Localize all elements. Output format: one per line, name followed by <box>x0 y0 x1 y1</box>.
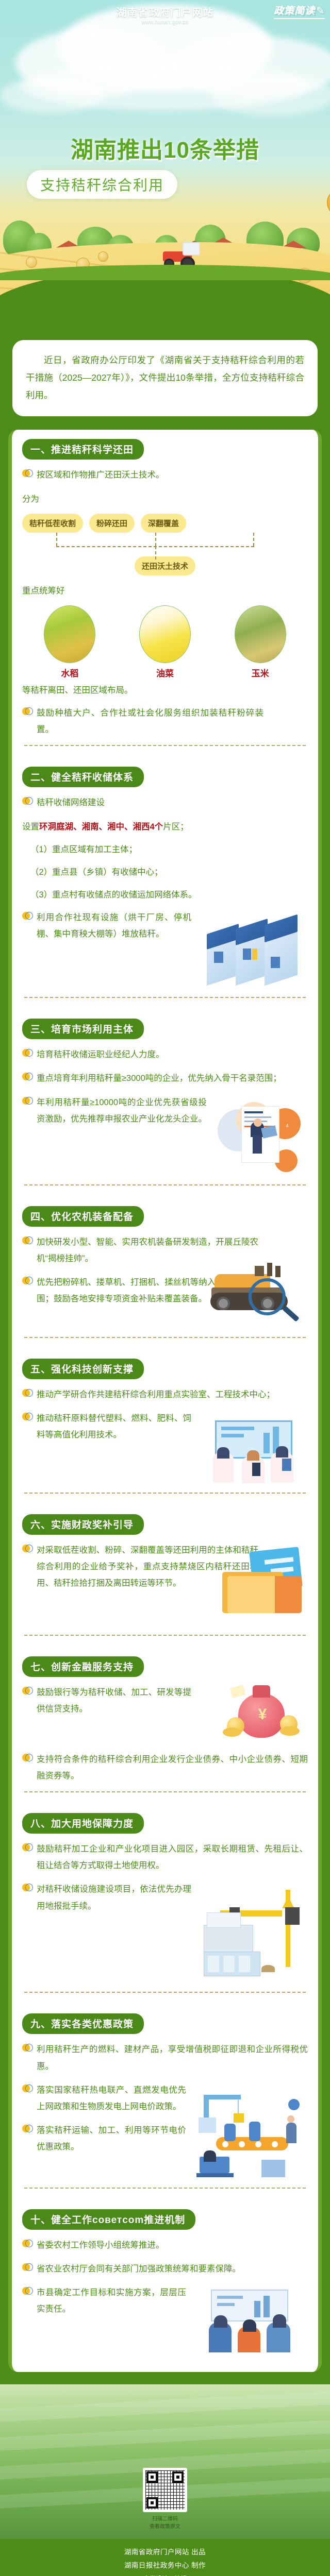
section-4: 四、优化农机装备配备 <box>12 1197 318 1349</box>
section-heading: 五、强化科技创新支撑 <box>22 1359 144 1379</box>
flow-diagram: 秸秆低茬收割 粉碎还田 深翻覆盖 还田沃土技术 <box>22 514 308 575</box>
crop-list: 水稻 油菜 玉米 <box>22 605 308 679</box>
bullet-dot-icon <box>22 1049 32 1059</box>
crop-item: 油菜 <box>137 605 193 679</box>
credit-line-2: 湖南日报社政务中心 制作 <box>0 2560 330 2570</box>
section-divider <box>24 745 306 746</box>
section-9: 九、落实各类优惠政策 利用秸秆生产的燃料、建材产品，享受增值税即征即退和企业所得… <box>12 2004 318 2199</box>
bullet-dot-icon <box>22 2084 32 2094</box>
bullet-text: 落实国家秸秆热电联产、直燃发电优先上网政策和生物质发电上网电价政策。 <box>37 2082 186 2115</box>
bullet-dot-icon <box>22 2287 32 2297</box>
crop-label: 水稻 <box>41 666 98 679</box>
qr-code[interactable] <box>143 2468 187 2512</box>
page-subtitle-container: 支持秸秆综合利用 <box>27 170 177 199</box>
numbered-item: （2）重点县（乡镇）有收储中心； <box>30 864 308 880</box>
bullet-text: 优先把粉碎机、搂草机、打捆机、揉丝机等纳入中央补贴范围；鼓励各地安排专项资金补贴… <box>37 1274 258 1307</box>
bullet-text: 鼓励种植大户、合作社或社会化服务组织加装秸秆粉碎装置。 <box>37 705 263 738</box>
section-heading: 三、培育市场利用主体 <box>22 1019 144 1039</box>
bullet-dot-icon <box>22 469 32 479</box>
bullet-item: 落实秸秆运输、加工、利用等环节电价优惠政策。 <box>22 2122 308 2155</box>
section-divider <box>24 1992 306 1993</box>
bullet-item: 加快研发小型、智能、实用农机装备研发制造，开展丘陵农机“揭榜挂帅”。 <box>22 1234 308 1267</box>
section-7: 七、创新金融服务支持 ¥ 鼓励银行等为秸秆收储、加工、研发 <box>12 1647 318 1804</box>
site-url: www.hunan.gov.cn <box>0 20 330 25</box>
qr-block: 扫描二维码 查看政策原文 <box>0 2468 330 2531</box>
bullet-text: 推动产学研合作共建秸秆综合利用重点实验室、工程技术中心； <box>37 1386 308 1403</box>
bullet-dot-icon <box>22 912 32 922</box>
rice-crop-icon <box>44 605 95 663</box>
bullet-dot-icon <box>22 2125 32 2134</box>
bullet-text: 对秸秆收储设施建设项目，依法优先办理用地报批手续。 <box>37 1881 191 1914</box>
section-heading: 八、加大用地保障力度 <box>22 1813 144 1834</box>
section-3: 三、培育市场利用主体 培育秸秆收储运职业经纪人力度。 重点培育年利用秸秆量≥30… <box>12 1009 318 1196</box>
footer-field-banner: 扫描二维码 查看政策原文 <box>0 2384 330 2539</box>
bullet-dot-icon <box>22 1545 32 1554</box>
section-heading: 九、落实各类优惠政策 <box>22 2013 144 2034</box>
bullet-text: 鼓励秸秆加工企业和产业化项目进入园区，采取长期租赁、先租后让、租让结合等方式取得… <box>37 1841 308 1874</box>
bullet-dot-icon <box>22 797 32 807</box>
bullet-item: 落实国家秸秆热电联产、直燃发电优先上网政策和生物质发电上网电价政策。 <box>22 2082 308 2115</box>
region-highlight: 环洞庭湖、湘南、湘中、湘西4个 <box>39 822 163 832</box>
page-subtitle: 支持秸秆综合利用 <box>40 174 164 195</box>
hay-bale-icon <box>98 251 108 262</box>
bullet-item: 培育秸秆收储运职业经纪人力度。 <box>22 1046 308 1063</box>
bullet-item: 省农业农村厅会同有关部门加强政策统筹和要素保障。 <box>22 2261 308 2277</box>
flow-connector-lines <box>22 533 308 560</box>
bullet-text: 秸秆收储网络建设 <box>37 794 308 811</box>
bullet-text: 利用秸秆生产的燃料、建材产品，享受增值税即征即退和企业所得税优惠。 <box>37 2041 308 2074</box>
bullet-item: 优先把粉碎机、搂草机、打捆机、揉丝机等纳入中央补贴范围；鼓励各地安排专项资金补贴… <box>22 1274 308 1307</box>
bullet-item: 鼓励银行等为秸秆收储、加工、研发等提供信贷支持。 <box>22 1684 308 1717</box>
qr-caption-line2: 查看政策原文 <box>0 2523 330 2531</box>
section-8: 八、加大用地保障力度 鼓励秸秆加工企业和产业化项目进入园区，采取长期租赁、先租后… <box>12 1804 318 2004</box>
page-title: 湖南推出10条举措 <box>0 131 330 164</box>
bullet-dot-icon <box>22 1884 32 1893</box>
bullet-dot-icon <box>22 1754 32 1764</box>
qr-caption-line1: 扫描二维码 <box>0 2515 330 2523</box>
bullet-text: 利用合作社现有设施（烘干厂房、停机棚、集中育秧大棚等）堆放秸秆。 <box>37 909 191 942</box>
crops-label: 重点统筹好 <box>22 583 308 599</box>
section-divider <box>24 1635 306 1636</box>
section-heading: 二、健全秸秆收储体系 <box>22 767 144 787</box>
section-divider <box>24 1791 306 1792</box>
bullet-item: 市县确定工作目标和实施方案，层层压实责任。 <box>22 2284 308 2317</box>
crop-item: 水稻 <box>41 605 98 679</box>
section-divider <box>24 1337 306 1338</box>
hay-bale-icon <box>26 257 37 268</box>
section-10: 十、健全工作советcom推进机制 省委农村工作领导小组统筹推进。 省农业农村… <box>12 2200 318 2372</box>
section-heading: 十、健全工作советcom推进机制 <box>22 2209 195 2230</box>
bullet-item: 推动秸秆原料替代塑料、燃料、肥料、饲料等高值化利用技术。 <box>22 1410 308 1443</box>
region-lead-line: 设置环洞庭湖、湘南、湘中、湘西4个片区； <box>22 819 308 835</box>
bullet-item: 利用秸秆生产的燃料、建材产品，享受增值税即征即退和企业所得税优惠。 <box>22 2041 308 2074</box>
hero-banner: 湖南省政府门户网站 www.hunan.gov.cn 政策简读✎ <box>0 0 330 340</box>
policy-digest-badge: 政策简读✎ <box>274 3 325 19</box>
bullet-dot-icon <box>22 707 32 717</box>
section-heading: 七、创新金融服务支持 <box>22 1656 144 1677</box>
section-divider <box>24 1184 306 1185</box>
bullet-text: 重点培育年利用秸秆量≥3000吨的企业，优先纳入骨干名录范围； <box>37 1070 308 1087</box>
bullet-item: 对秸秆收储设施建设项目，依法优先办理用地报批手续。 <box>22 1881 308 1914</box>
bullet-dot-icon <box>22 2263 32 2273</box>
section-1: 一、推进秸秆科学还田 按区域和作物推广还田沃土技术。 分为 秸秆低茬收割 粉碎还… <box>12 430 318 757</box>
bullet-text: 落实秸秆运输、加工、利用等环节电价优惠政策。 <box>37 2122 186 2155</box>
flow-chip: 深翻覆盖 <box>141 514 186 533</box>
region-lead: 设置 <box>22 822 39 832</box>
flow-chip: 秸秆低茬收割 <box>22 514 83 533</box>
bullet-item: 按区域和作物推广还田沃土技术。 <box>22 467 308 483</box>
bullet-dot-icon <box>22 1413 32 1422</box>
intro-text: 近日，省政府办公厅印发了《湖南省关于支持秸秆综合利用的若干措施（2025—202… <box>26 351 304 404</box>
crops-tail-text: 等秸秆离田、还田区域布局。 <box>22 682 308 699</box>
cloud-shape <box>0 77 103 113</box>
section-5: 五、强化科技创新支撑 推动产学研合作共建秸秆综合利用重点实验室、工程技术中心； <box>12 1349 318 1505</box>
bullet-dot-icon <box>22 1097 32 1107</box>
section-heading: 六、实施财政奖补引导 <box>22 1514 144 1535</box>
cloud-shape <box>211 75 330 116</box>
bullet-text: 培育秸秆收储运职业经纪人力度。 <box>37 1046 308 1063</box>
bullet-text: 支持符合条件的秸秆综合利用企业发行企业债券、中小企业债券、短期融资券等。 <box>37 1751 308 1784</box>
green-wave-divider <box>0 268 330 340</box>
bullet-item: 推动产学研合作共建秸秆综合利用重点实验室、工程技术中心； <box>22 1386 308 1403</box>
region-tail: 片区； <box>163 822 189 832</box>
infographic-page: 湖南省政府门户网站 www.hunan.gov.cn 政策简读✎ <box>0 0 330 2576</box>
section-6: 六、实施财政奖补引导 对采取低茬收割、粉碎、深翻覆盖等还田利用的主体和秸秆综合利… <box>12 1505 318 1647</box>
credit-line-1: 湖南省政府门户网站 出品 <box>0 2546 330 2556</box>
bullet-dot-icon <box>22 2044 32 2054</box>
bullet-item: 鼓励种植大户、合作社或社会化服务组织加装秸秆粉碎装置。 <box>22 705 308 738</box>
rapeseed-crop-icon <box>139 605 191 663</box>
flow-chip: 粉碎还田 <box>89 514 135 533</box>
bullet-dot-icon <box>22 1389 32 1399</box>
flow-chip-row: 秸秆低茬收割 粉碎还田 深翻覆盖 <box>22 514 308 533</box>
bullet-dot-icon <box>22 1277 32 1286</box>
bullet-dot-icon <box>22 2240 32 2249</box>
bullet-dot-icon <box>22 1687 32 1697</box>
badge-label: 政策简读 <box>274 6 315 16</box>
bullet-item: 重点培育年利用秸秆量≥3000吨的企业，优先纳入骨干名录范围； <box>22 1070 308 1087</box>
flow-label: 分为 <box>22 491 308 507</box>
bullet-text: 按区域和作物推广还田沃土技术。 <box>37 467 308 483</box>
sections-panel: 一、推进秸秆科学还田 按区域和作物推广还田沃土技术。 分为 秸秆低茬收割 粉碎还… <box>8 430 322 2372</box>
crop-label: 玉米 <box>232 666 289 679</box>
section-heading: 一、推进秸秆科学还田 <box>22 439 144 460</box>
bullet-text: 市县确定工作目标和实施方案，层层压实责任。 <box>37 2284 186 2317</box>
bullet-dot-icon <box>22 1236 32 1246</box>
bullet-item: 利用合作社现有设施（烘干厂房、停机棚、集中育秧大棚等）堆放秸秆。 <box>22 909 228 942</box>
credit-line-3: 文案设计：编辑 <box>0 2574 330 2576</box>
bullet-item: 年利用秸秆量≥10000吨的企业优先获省级投资激励，优先推荐申报农业产业化龙头企… <box>22 1094 308 1127</box>
bullet-dot-icon <box>22 1843 32 1853</box>
numbered-item: （3）重点村有收储点的收储运加网络体系。 <box>30 887 308 903</box>
bullet-text: 省委农村工作领导小组统筹推进。 <box>37 2237 308 2253</box>
section-2: 二、健全秸秆收储体系 秸秆收储网络建设 设置环洞庭湖、湘南、湘中、湘西4个片区；… <box>12 757 318 1009</box>
credits-bar: 湖南省政府门户网站 出品 湖南日报社政务中心 制作 文案设计：编辑 <box>0 2539 330 2576</box>
section-heading: 四、优化农机装备配备 <box>22 1206 144 1227</box>
crop-label: 油菜 <box>137 666 193 679</box>
section-divider <box>24 997 306 998</box>
numbered-item: （1）重点区域有加工主体； <box>30 841 308 858</box>
pencil-icon: ✎ <box>316 6 325 16</box>
intro-card: 近日，省政府办公厅印发了《湖南省关于支持秸秆综合利用的若干措施（2025—202… <box>12 340 318 416</box>
bullet-item: 对采取低茬收割、粉碎、深翻覆盖等还田利用的主体和秸秆综合利用的企业给予奖补，重点… <box>22 1542 308 1592</box>
bullet-item: 省委农村工作领导小组统筹推进。 <box>22 2237 308 2253</box>
bullet-text: 对采取低茬收割、粉碎、深翻覆盖等还田利用的主体和秸秆综合利用的企业给予奖补，重点… <box>37 1542 258 1592</box>
corn-crop-icon <box>235 605 286 663</box>
bullet-text: 鼓励银行等为秸秆收储、加工、研发等提供信贷支持。 <box>37 1684 191 1717</box>
bullet-item: 秸秆收储网络建设 <box>22 794 308 811</box>
section-divider <box>24 2188 306 2189</box>
bullet-text: 年利用秸秆量≥10000吨的企业优先获省级投资激励，优先推荐申报农业产业化龙头企… <box>37 1094 207 1127</box>
bullet-text: 推动秸秆原料替代塑料、燃料、肥料、饲料等高值化利用技术。 <box>37 1410 191 1443</box>
section-divider <box>24 1493 306 1494</box>
bullet-text: 加快研发小型、智能、实用农机装备研发制造，开展丘陵农机“揭榜挂帅”。 <box>37 1234 258 1267</box>
bullet-dot-icon <box>22 1073 32 1082</box>
bullet-item: 支持符合条件的秸秆综合利用企业发行企业债券、中小企业债券、短期融资券等。 <box>22 1751 308 1784</box>
bullet-text: 省农业农村厅会同有关部门加强政策统筹和要素保障。 <box>37 2261 308 2277</box>
crop-item: 玉米 <box>232 605 289 679</box>
body-area: 近日，省政府办公厅印发了《湖南省关于支持秸秆综合利用的若干措施（2025—202… <box>0 340 330 2372</box>
bullet-item: 鼓励秸秆加工企业和产业化项目进入园区，采取长期租赁、先租后让、租让结合等方式取得… <box>22 1841 308 1874</box>
